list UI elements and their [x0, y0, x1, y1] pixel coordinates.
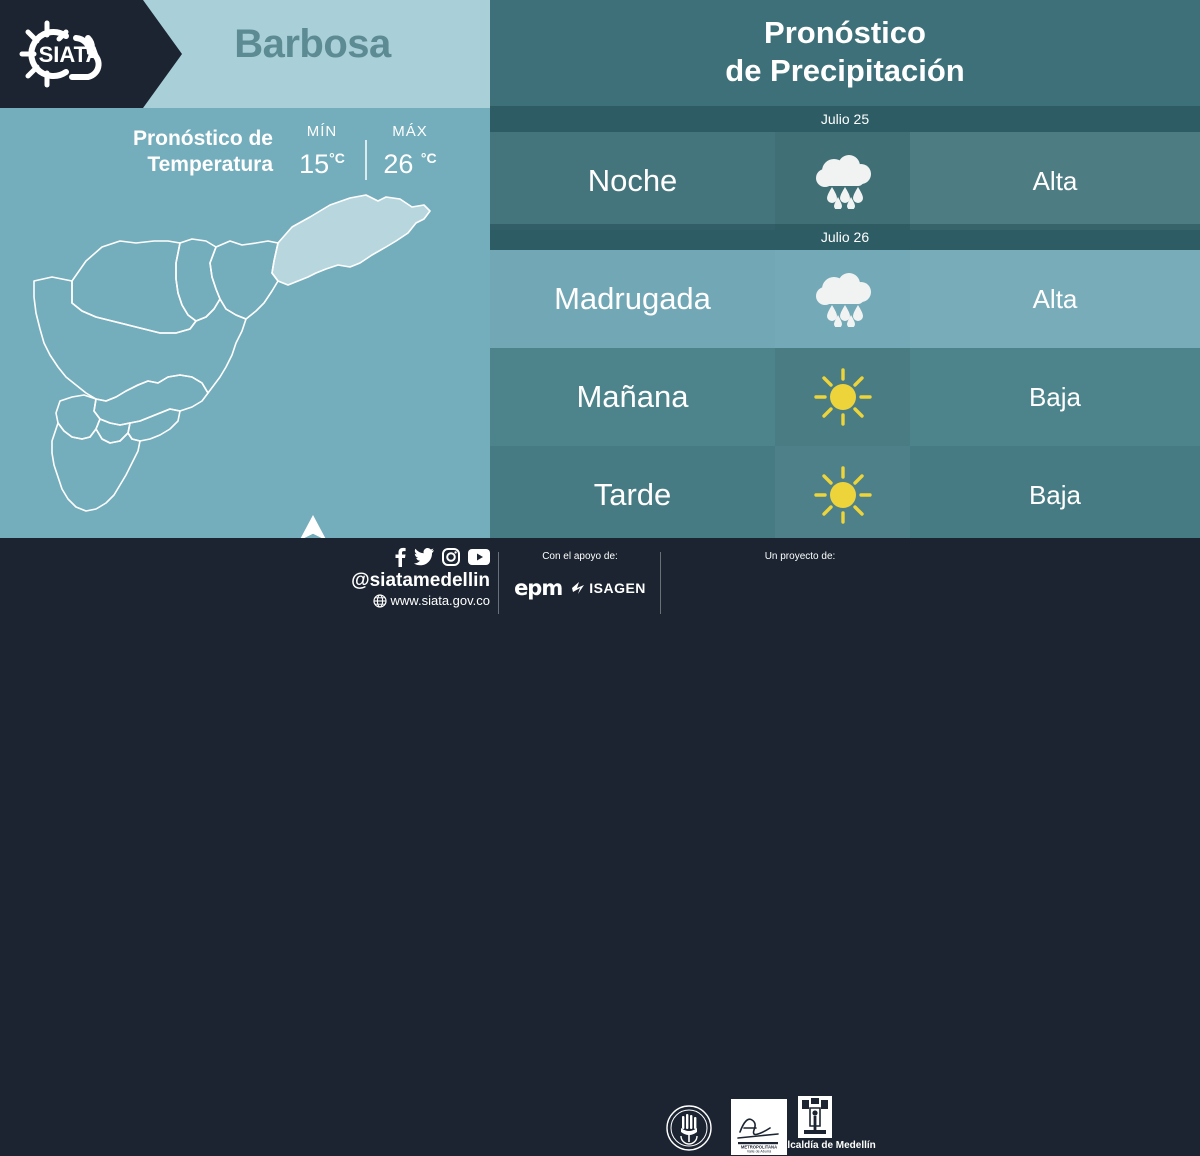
precipitation-title-line2: de Precipitación [725, 53, 964, 88]
isagen-logo: ISAGEN [572, 580, 646, 596]
forecast-probability-label: Alta [910, 250, 1200, 348]
svg-text:Valle de Aburrá: Valle de Aburrá [747, 1150, 771, 1154]
forecast-probability-label: Baja [910, 446, 1200, 544]
temperature-max: MÁX 26 °C [371, 122, 449, 180]
rain-cloud-icon [775, 250, 910, 348]
epm-logo: epm [514, 576, 562, 600]
temperature-divider [365, 140, 367, 180]
forecast-row-madrugada: Madrugada Alta [490, 250, 1200, 348]
alcaldia-medellin-logo [798, 1096, 832, 1138]
temperature-max-value: 26 [383, 149, 413, 179]
precipitation-title: Pronóstico de Precipitación [490, 14, 1200, 90]
temperature-forecast: Pronóstico de Temperatura MÍN 15°C MÁX 2… [0, 118, 490, 188]
social-handle[interactable]: @siatamedellin [330, 569, 490, 592]
support-label: Con el apoyo de: [505, 550, 655, 564]
sun-glyph [812, 366, 874, 428]
temperature-min-value-group: 15°C [283, 142, 361, 180]
forecast-row-tarde: Tarde Baja [490, 446, 1200, 544]
rain-cloud-glyph [812, 271, 874, 327]
globe-icon [373, 594, 387, 608]
temperature-values: MÍN 15°C MÁX 26 °C [283, 122, 463, 184]
map-region-caldas [52, 423, 140, 511]
seal-icon [665, 1104, 713, 1152]
temperature-min-unit: °C [329, 150, 345, 166]
footer-divider [660, 552, 661, 614]
footer: @siatamedellin www.siata.gov.co Con el a… [0, 538, 1200, 630]
temperature-min-value: 15 [299, 149, 329, 179]
date-band-julio-26: Julio 26 [490, 224, 1200, 250]
sun-cloud-icon: SIATA [14, 16, 132, 92]
siata-logo-banner: SIATA [0, 0, 182, 108]
map-region-itagui [94, 375, 208, 425]
sun-icon [775, 446, 910, 544]
siata-logo-text: SIATA [39, 42, 102, 67]
sun-icon [775, 348, 910, 446]
sun-glyph [812, 464, 874, 526]
support-block: Con el apoyo de: epm ISAGEN [505, 550, 655, 600]
map-region-barbosa [272, 195, 430, 285]
temperature-min-label: MÍN [283, 122, 361, 142]
isagen-text: ISAGEN [589, 580, 646, 596]
forecast-period-label: Tarde [490, 446, 775, 544]
alcaldia-label: Alcaldía de Medellín [778, 1140, 878, 1151]
map-region-bello [72, 241, 196, 333]
temperature-title-line2: Temperatura [147, 153, 273, 176]
rain-cloud-icon [775, 132, 910, 230]
map-region-sabaneta [96, 419, 130, 443]
forecast-row-manana: Mañana Baja [490, 348, 1200, 446]
temperature-title: Pronóstico de Temperatura [58, 126, 273, 178]
weather-forecast-infographic: Barbosa SIATA Pronóstico [0, 0, 1200, 630]
twitter-icon[interactable] [414, 548, 434, 566]
youtube-icon[interactable] [468, 549, 490, 565]
forecast-period-label: Noche [490, 132, 775, 230]
map-region-medellin [34, 277, 246, 401]
temperature-max-value-group: 26 °C [371, 142, 449, 180]
temperature-min: MÍN 15°C [283, 122, 361, 180]
project-label: Un proyecto de: [700, 550, 900, 564]
page-title: Barbosa [140, 22, 485, 67]
forecast-probability-label: Baja [910, 348, 1200, 446]
project-block: Un proyecto de: [700, 550, 900, 564]
forecast-probability-label: Alta [910, 132, 1200, 230]
isagen-mark-icon [572, 581, 586, 595]
website-link[interactable]: www.siata.gov.co [330, 592, 490, 610]
website-text: www.siata.gov.co [391, 592, 490, 610]
support-logos: epm ISAGEN [505, 576, 655, 600]
instagram-icon[interactable] [442, 548, 460, 566]
temperature-title-line1: Pronóstico de [133, 127, 273, 150]
social-block: @siatamedellin www.siata.gov.co [330, 546, 490, 610]
forecast-row-noche: Noche Alta [490, 132, 1200, 230]
temperature-max-label: MÁX [371, 122, 449, 142]
date-band-julio-25: Julio 25 [490, 106, 1200, 132]
map-svg [20, 185, 470, 530]
left-panel: Barbosa SIATA Pronóstico [0, 0, 490, 538]
forecast-period-label: Madrugada [490, 250, 775, 348]
social-icons [330, 546, 490, 568]
map-region-girardota [210, 241, 278, 319]
aburra-valley-map: N [20, 185, 470, 530]
forecast-period-label: Mañana [490, 348, 775, 446]
footer-divider [498, 552, 499, 614]
precipitation-title-line1: Pronóstico [764, 15, 926, 50]
rain-cloud-glyph [812, 153, 874, 209]
map-region-laestrella [128, 409, 180, 441]
precipitation-panel: Pronóstico de Precipitación Julio 25 Noc… [490, 0, 1200, 538]
temperature-max-unit: °C [421, 150, 437, 166]
facebook-icon[interactable] [394, 547, 406, 567]
